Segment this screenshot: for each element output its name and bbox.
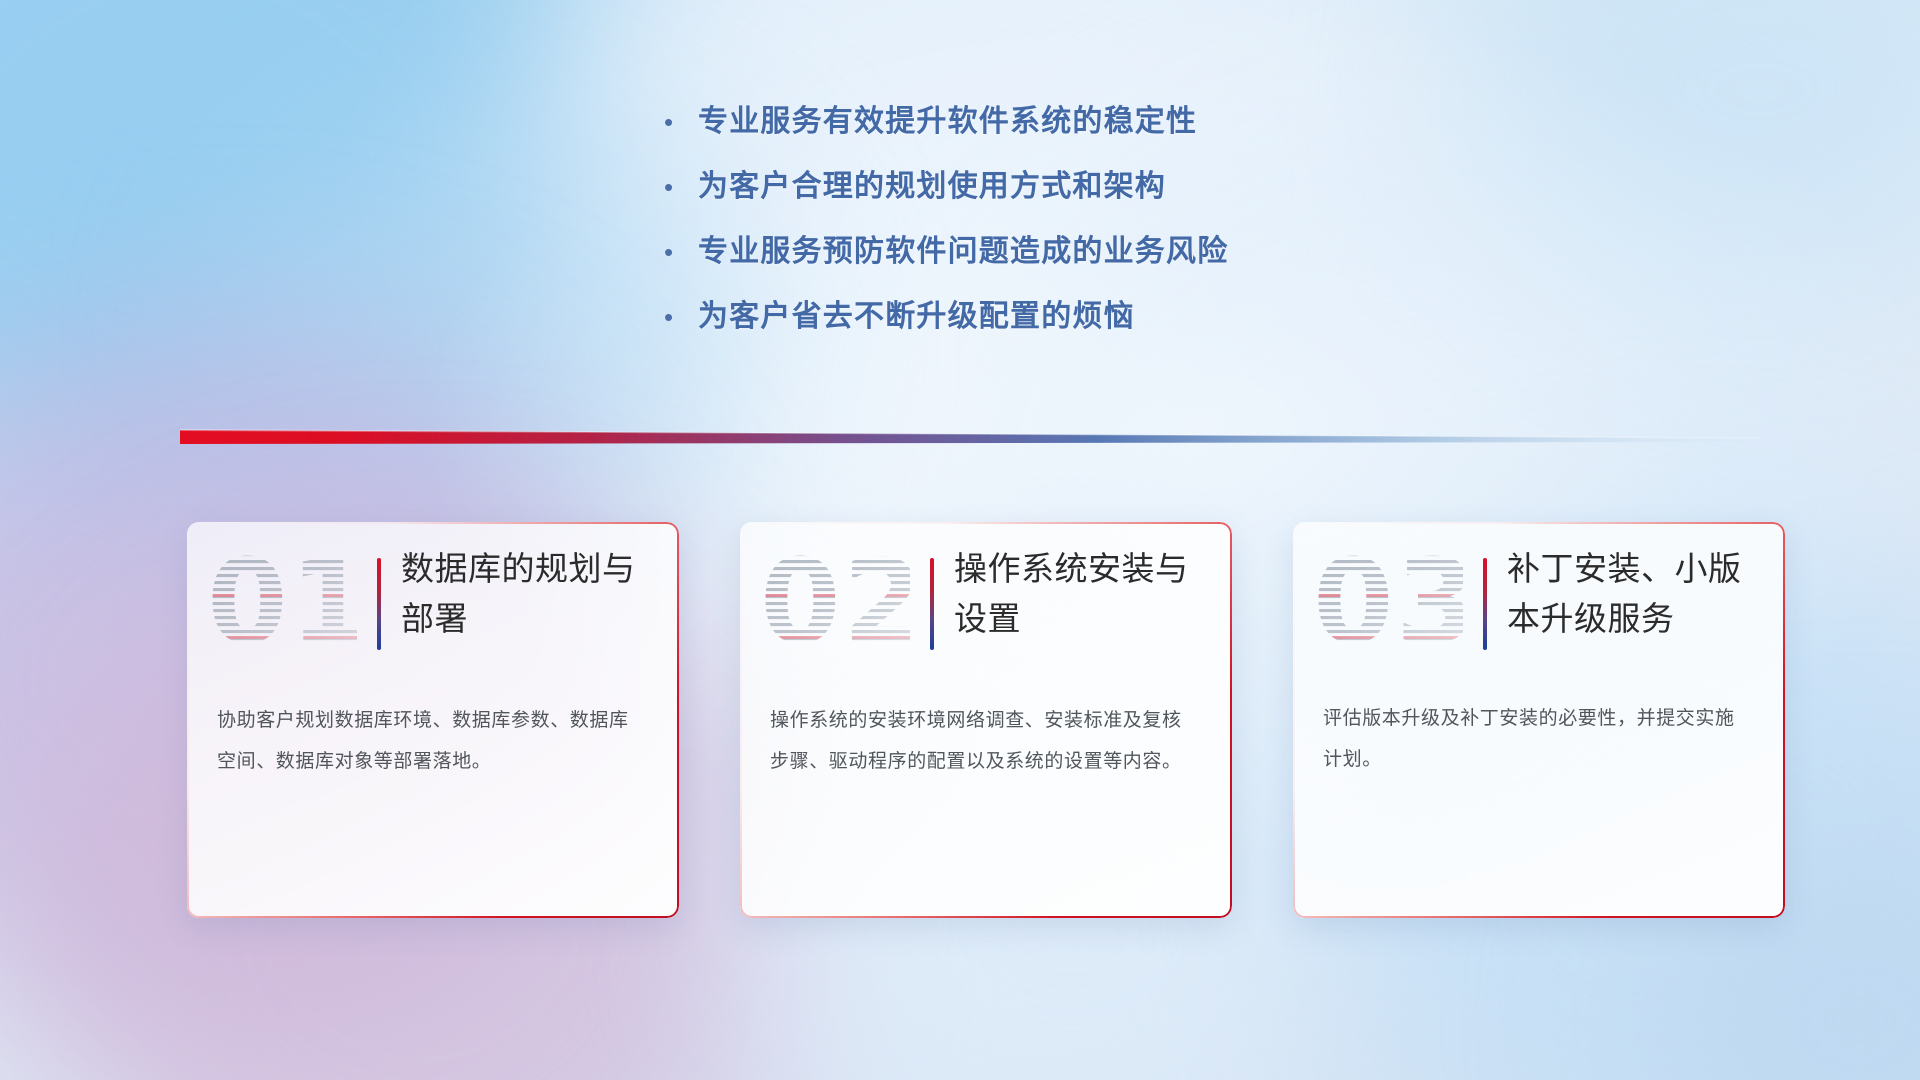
bullet-dot-icon: • [660,109,698,135]
service-card[interactable]: 02 操作系统安装与设置 操作系统的安装环境网络调查、安装标准及复核步骤、驱动程… [740,522,1232,918]
card-header: 01 数据库的规划与部署 [187,544,679,670]
card-body-text: 操作系统的安装环境网络调查、安装标准及复核步骤、驱动程序的配置以及系统的设置等内… [770,700,1200,782]
bullet-text: 专业服务有效提升软件系统的稳定性 [698,100,1197,144]
section-divider [180,418,1760,452]
card-accent-bar [377,558,381,650]
benefits-bullet-list: • 专业服务有效提升软件系统的稳定性 • 为客户合理的规划使用方式和架构 • 专… [660,100,1228,360]
service-card[interactable]: 01 数据库的规划与部署 协助客户规划数据库环境、数据库参数、数据库空间、数据库… [187,522,679,918]
bullet-item: • 专业服务预防软件问题造成的业务风险 [660,230,1228,282]
card-title: 操作系统安装与设置 [954,544,1216,644]
card-number-watermark: 02 [758,546,910,664]
card-body-text: 协助客户规划数据库环境、数据库参数、数据库空间、数据库对象等部署落地。 [217,700,647,782]
service-card-list: 01 数据库的规划与部署 协助客户规划数据库环境、数据库参数、数据库空间、数据库… [0,522,1920,922]
service-card[interactable]: 03 补丁安装、小版本升级服务 评估版本升级及补丁安装的必要性，并提交实施计划。 [1293,522,1785,918]
bullet-dot-icon: • [660,239,698,265]
bullet-item: • 为客户合理的规划使用方式和架构 [660,165,1228,217]
card-title: 补丁安装、小版本升级服务 [1507,544,1769,644]
bullet-text: 为客户合理的规划使用方式和架构 [698,165,1166,209]
card-header: 02 操作系统安装与设置 [740,544,1232,670]
bullet-text: 专业服务预防软件问题造成的业务风险 [698,230,1228,274]
card-header: 03 补丁安装、小版本升级服务 [1293,544,1785,670]
card-number-watermark: 01 [205,546,357,664]
card-body-text: 评估版本升级及补丁安装的必要性，并提交实施计划。 [1323,698,1753,780]
bullet-item: • 为客户省去不断升级配置的烦恼 [660,295,1228,347]
bullet-item: • 专业服务有效提升软件系统的稳定性 [660,100,1228,152]
card-number-watermark: 03 [1311,546,1463,664]
card-accent-bar [1483,558,1487,650]
card-accent-bar [930,558,934,650]
bullet-dot-icon: • [660,174,698,200]
card-title: 数据库的规划与部署 [401,544,663,644]
bullet-dot-icon: • [660,304,698,330]
bullet-text: 为客户省去不断升级配置的烦恼 [698,295,1135,339]
